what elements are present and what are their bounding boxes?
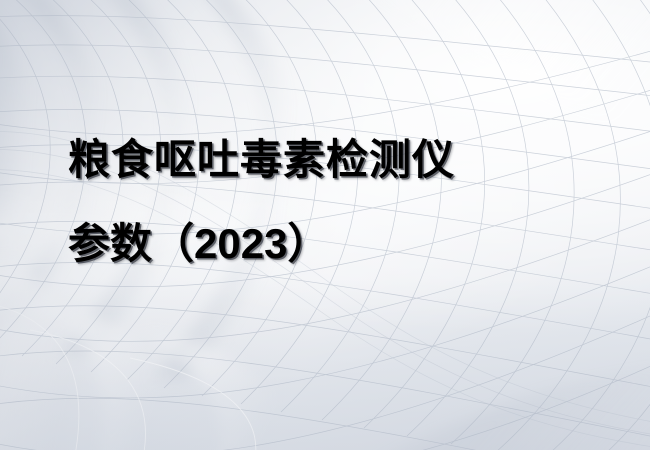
title-banner: 粮食呕吐毒素检测仪 参数（2023）: [0, 0, 650, 450]
page-title: 粮食呕吐毒素检测仪 参数（2023）: [68, 118, 588, 286]
title-line-1: 粮食呕吐毒素检测仪: [68, 118, 588, 202]
title-line-2: 参数（2023）: [68, 202, 588, 286]
